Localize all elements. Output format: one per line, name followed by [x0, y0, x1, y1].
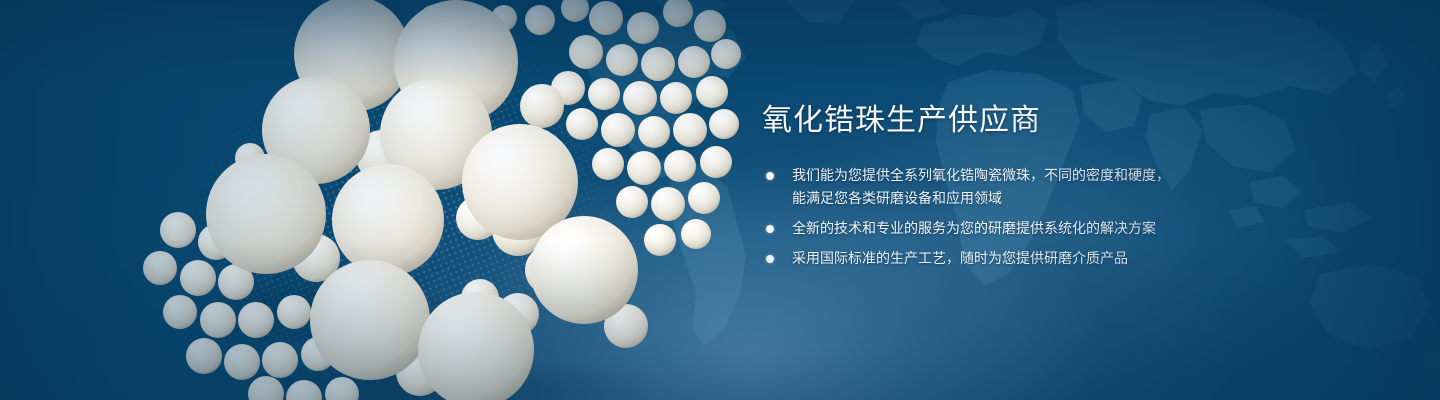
hero-banner: 氧化锆珠生产供应商 我们能为您提供全系列氧化锆陶瓷微珠，不同的密度和硬度， 能满… [0, 0, 1440, 400]
background-vignette [0, 0, 1440, 400]
